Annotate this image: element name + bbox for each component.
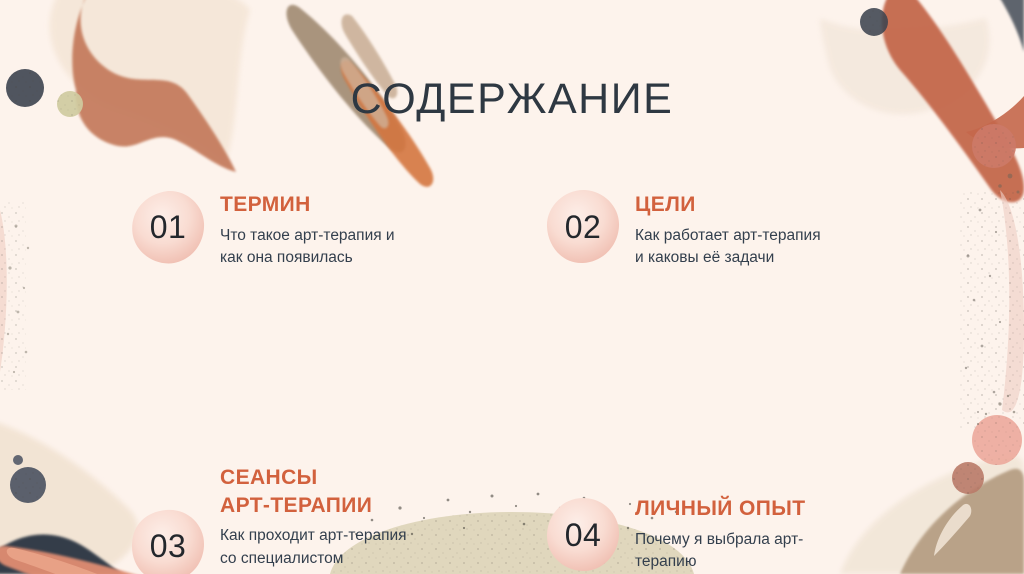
item-text-block-04: ЛИЧНЫЙ ОПЫТ Почему я выбрала арт- терапи… <box>635 493 805 574</box>
number-badge-03: 03 <box>130 508 206 574</box>
list-item-02[interactable]: 02 ЦЕЛИ Как работает арт-терапия и каков… <box>545 189 821 270</box>
contents-list: 01 ТЕРМИН Что такое арт-терапия и как он… <box>0 175 1024 475</box>
item-description: Что такое арт-терапия и как она появилас… <box>220 225 395 270</box>
item-text-block-02: ЦЕЛИ Как работает арт-терапия и каковы е… <box>635 189 821 270</box>
item-number: 03 <box>150 530 187 562</box>
number-badge-04: 04 <box>545 497 621 573</box>
contents-row-1: 01 ТЕРМИН Что такое арт-терапия и как он… <box>0 175 1024 325</box>
contents-row-2: 03 СЕАНСЫ АРТ-ТЕРАПИИ Как проходит арт-т… <box>0 325 1024 475</box>
list-item-03[interactable]: 03 СЕАНСЫ АРТ-ТЕРАПИИ Как проходит арт-т… <box>130 462 407 574</box>
item-description: Как проходит арт-терапия со специалистом <box>220 525 407 570</box>
item-heading: ТЕРМИН <box>220 191 395 219</box>
item-heading: СЕАНСЫ АРТ-ТЕРАПИИ <box>220 464 407 519</box>
item-text-block-03: СЕАНСЫ АРТ-ТЕРАПИИ Как проходит арт-тера… <box>220 462 407 570</box>
number-badge-02: 02 <box>545 189 621 265</box>
list-item-01[interactable]: 01 ТЕРМИН Что такое арт-терапия и как он… <box>130 189 395 270</box>
item-heading: ЛИЧНЫЙ ОПЫТ <box>635 495 805 523</box>
page-title: СОДЕРЖАНИЕ <box>0 75 1024 124</box>
item-number: 01 <box>150 211 187 243</box>
item-description: Почему я выбрала арт- терапию <box>635 529 805 574</box>
item-number: 04 <box>565 519 602 551</box>
item-text-block-01: ТЕРМИН Что такое арт-терапия и как она п… <box>220 189 395 270</box>
item-number: 02 <box>565 211 602 243</box>
list-item-04[interactable]: 04 ЛИЧНЫЙ ОПЫТ Почему я выбрала арт- тер… <box>545 493 805 574</box>
item-heading: ЦЕЛИ <box>635 191 821 219</box>
item-description: Как работает арт-терапия и каковы её зад… <box>635 225 821 270</box>
presentation-slide: СОДЕРЖАНИЕ 01 ТЕРМИН Что такое арт-терап… <box>0 0 1024 574</box>
number-badge-01: 01 <box>130 189 206 265</box>
